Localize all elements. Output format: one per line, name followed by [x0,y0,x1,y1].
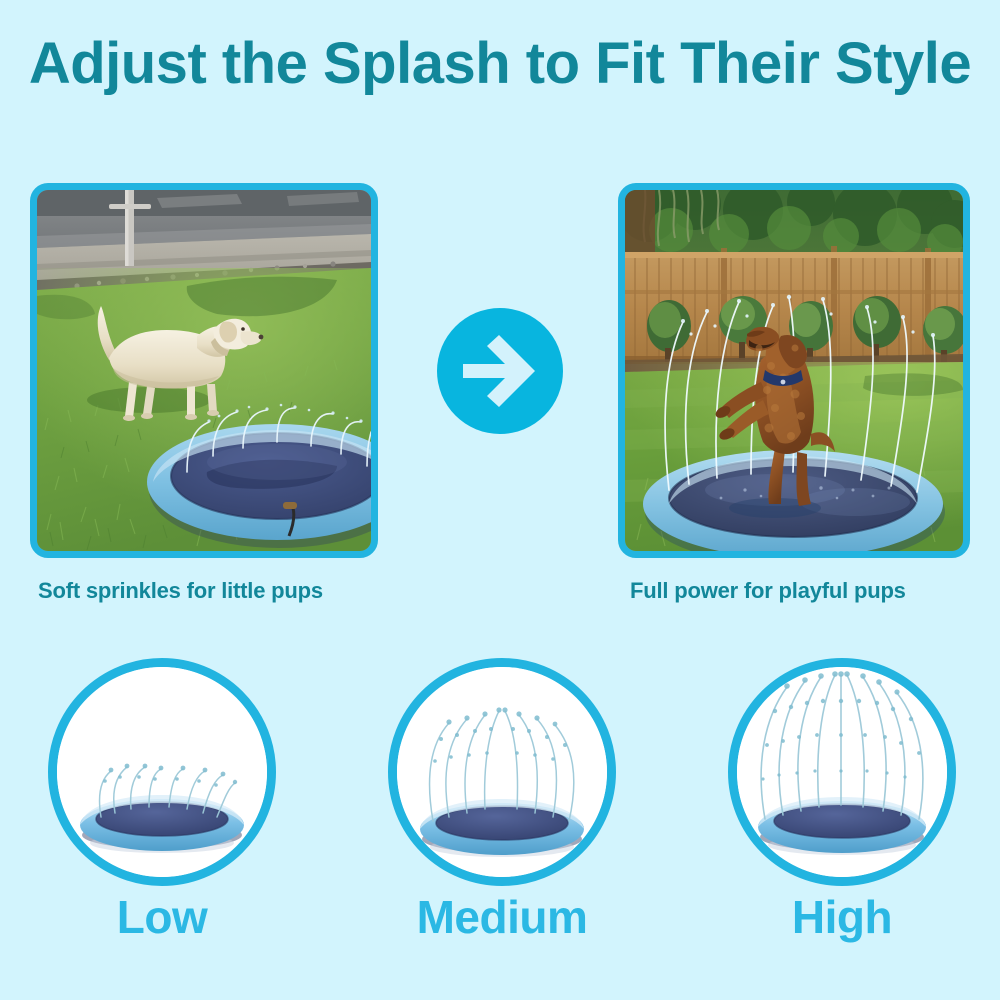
arrow-right-icon [437,308,563,434]
photo-left-image [37,190,371,551]
photo-right-image [625,190,963,551]
jumping-dog-splash-pad-photo [625,190,963,551]
arrow-right-glyph [461,335,539,407]
photo-card-high-spray [618,183,970,558]
splash-pad-high-icon [728,658,956,886]
splash-pad-low-icon [48,658,276,886]
level-item-medium: Medium [388,658,616,886]
level-label-high: High [728,890,956,944]
level-label-low: Low [48,890,276,944]
splash-pad-low-glyph [57,667,267,877]
splash-pad-medium-glyph [397,667,607,877]
level-item-high: High [728,658,956,886]
infographic-canvas: Adjust the Splash to Fit Their Style [0,0,1000,1000]
puppy-splash-pad-photo [37,190,371,551]
caption-low-spray: Soft sprinkles for little pups [38,578,323,604]
splash-pad-high-glyph [737,667,947,877]
caption-high-spray: Full power for playful pups [630,578,906,604]
photo-card-low-spray [30,183,378,558]
splash-pad-medium-icon [388,658,616,886]
page-title: Adjust the Splash to Fit Their Style [0,34,1000,95]
level-label-medium: Medium [388,890,616,944]
level-item-low: Low [48,658,276,886]
